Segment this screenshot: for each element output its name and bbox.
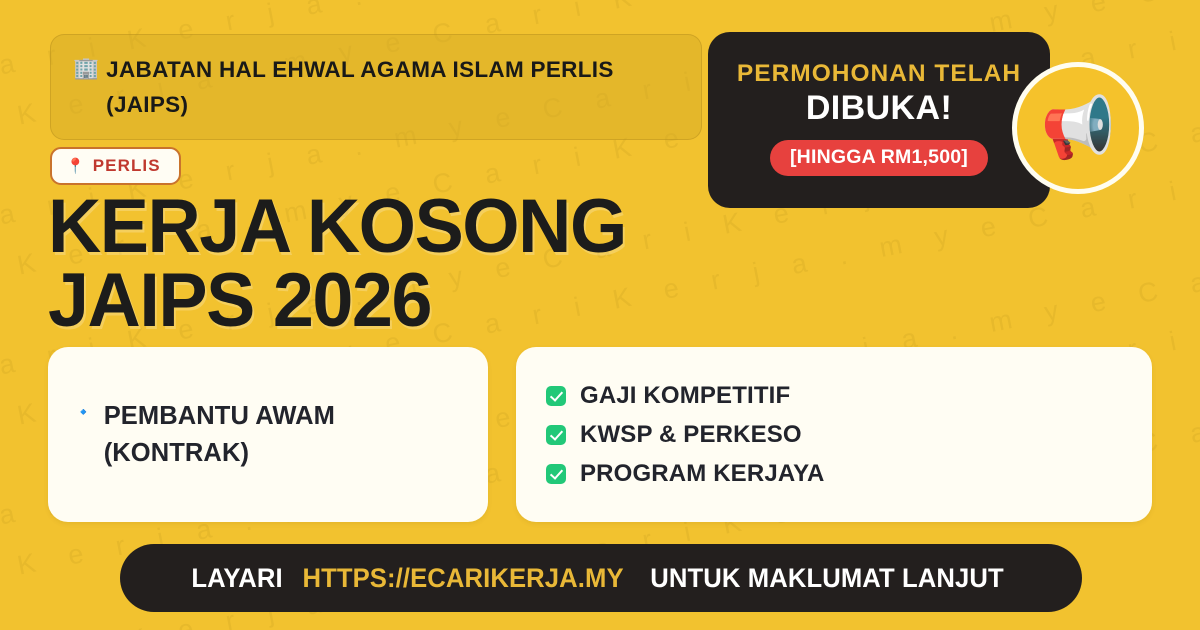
list-item: KWSP & PERKESO [546,421,1122,449]
state-badge-label: PERLIS [93,156,161,176]
agency-header-box: 🏢 JABATAN HAL EHWAL AGAMA ISLAM PERLIS (… [50,34,702,140]
small-blue-diamond-icon: 🔹 [74,398,93,427]
pin-icon: 📍 [66,159,85,174]
cta-bar[interactable]: LAYARI HTTPS://ECARIKERJA.MY UNTUK MAKLU… [120,544,1082,612]
position-title: PEMBANTU AWAM (KONTRAK) [104,398,462,470]
state-badge: 📍 PERLIS [50,147,181,185]
benefit-label: KWSP & PERKESO [580,421,802,449]
check-icon [546,464,566,484]
page-title: KERJA KOSONG JAIPS 2026 [48,190,626,337]
list-item: GAJI KOMPETITIF [546,382,1122,410]
headline-line-2: JAIPS 2026 [48,264,626,338]
position-row: 🔹 PEMBANTU AWAM (KONTRAK) [74,398,462,470]
cta-prefix: LAYARI [191,563,282,594]
list-item: PROGRAM KERJAYA [546,460,1122,488]
watermark-row: e C a r i K e r j a . m y e C a r i K e … [0,0,1200,26]
position-card: 🔹 PEMBANTU AWAM (KONTRAK) [48,347,488,522]
salary-badge: [HINGGA RM1,500] [770,140,988,176]
promo-status-line: PERMOHONAN TELAH [737,60,1021,87]
benefit-label: GAJI KOMPETITIF [580,382,790,410]
promo-card: PERMOHONAN TELAH DIBUKA! [HINGGA RM1,500… [708,32,1050,208]
benefits-card: GAJI KOMPETITIF KWSP & PERKESO PROGRAM K… [516,347,1152,522]
check-icon [546,386,566,406]
cta-suffix: UNTUK MAKLUMAT LANJUT [650,563,1003,594]
poster-canvas: e C a r i K e r j a . m y e C a r i K e … [0,0,1200,630]
headline-line-1: KERJA KOSONG [48,190,626,264]
agency-name-text: JABATAN HAL EHWAL AGAMA ISLAM PERLIS (JA… [106,53,679,123]
megaphone-icon: 📢 [1012,62,1144,194]
building-icon: 🏢 [73,53,99,85]
cta-url[interactable]: HTTPS://ECARIKERJA.MY [302,563,623,594]
check-icon [546,425,566,445]
promo-open-line: DIBUKA! [806,88,952,128]
benefit-label: PROGRAM KERJAYA [580,460,825,488]
